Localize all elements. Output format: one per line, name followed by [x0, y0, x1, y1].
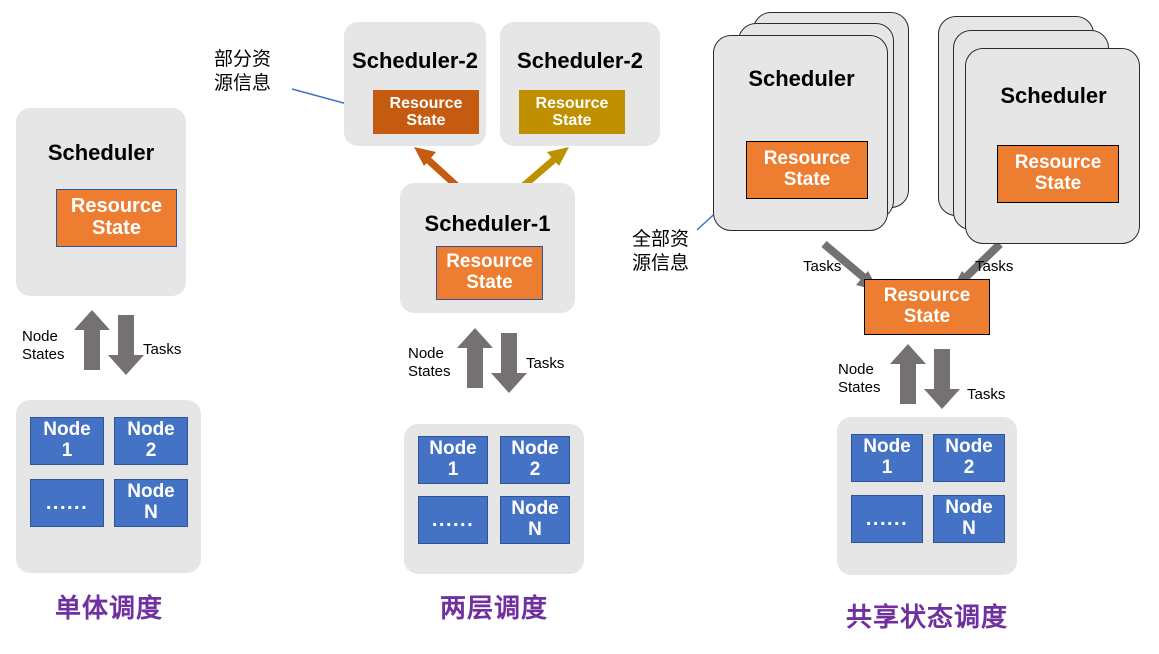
- node-label-line1: Node: [127, 482, 175, 503]
- resource-state-line1: Resource: [446, 252, 533, 273]
- node-box: Node N: [114, 479, 188, 527]
- shared-resource-state-box: Resource State: [864, 279, 990, 335]
- node-box-ellipsis: ......: [30, 479, 104, 527]
- scheduler-title: Scheduler: [966, 83, 1141, 109]
- resource-state-box: Resource State: [56, 189, 177, 247]
- annotation-full-resource: 全部资 源信息: [632, 228, 724, 276]
- annotation-line1: 部分资: [214, 48, 306, 72]
- scheduler-title: Scheduler-2: [500, 48, 660, 74]
- label-tasks-arrow-left: Tasks: [803, 258, 841, 276]
- resource-state-line2: State: [446, 273, 533, 294]
- caption-shared-state: 共享状态调度: [818, 597, 1036, 634]
- node-cluster-two-level: Node 1 Node 2 ...... Node N: [404, 424, 584, 574]
- node-label-line1: ......: [432, 509, 474, 531]
- node-label-line1: Node: [127, 420, 175, 441]
- label-line1: Node: [408, 345, 468, 363]
- node-label-line1: ......: [866, 508, 908, 530]
- node-box: Node 2: [114, 417, 188, 465]
- resource-state-line2: State: [536, 112, 609, 129]
- resource-state-line2: State: [764, 170, 851, 191]
- node-label-line1: Node: [43, 420, 91, 441]
- scheduler-title: Scheduler: [714, 66, 889, 92]
- node-label-line1: Node: [511, 439, 559, 460]
- resource-state-box: Resource State: [436, 246, 543, 300]
- node-box: Node 1: [851, 434, 923, 482]
- node-cluster-monolithic: Node 1 Node 2 ...... Node N: [16, 400, 201, 573]
- scheduler-title: Scheduler: [16, 140, 186, 166]
- resource-state-line1: Resource: [1015, 153, 1102, 174]
- resource-state-line1: Resource: [764, 149, 851, 170]
- label-line2: States: [838, 379, 898, 397]
- scheduler-title: Scheduler-1: [400, 211, 575, 237]
- node-label-line2: N: [511, 520, 559, 541]
- resource-state-line2: State: [884, 307, 971, 328]
- resource-state-line2: State: [390, 112, 463, 129]
- node-box: Node 2: [933, 434, 1005, 482]
- label-line1: Node: [838, 361, 898, 379]
- scheduler-stack-front-left: Scheduler Resource State: [713, 35, 888, 231]
- node-box: Node 2: [500, 436, 570, 484]
- node-label-line1: Node: [863, 437, 911, 458]
- resource-state-box: Resource State: [519, 90, 625, 134]
- annotation-line1: 全部资: [632, 228, 724, 252]
- label-node-states-2: Node States: [408, 345, 468, 380]
- node-box-ellipsis: ......: [851, 495, 923, 543]
- resource-state-line1: Resource: [536, 95, 609, 112]
- scheduler-box-sub-left: Scheduler-2 Resource State: [344, 22, 486, 146]
- resource-state-box: Resource State: [373, 90, 479, 134]
- annotation-partial-resource: 部分资 源信息: [214, 48, 306, 96]
- label-line2: States: [408, 363, 468, 381]
- label-node-states-3: Node States: [838, 361, 898, 396]
- block-arrow-tasks-2: [491, 333, 527, 393]
- resource-state-box: Resource State: [997, 145, 1119, 203]
- label-node-states-1: Node States: [22, 328, 82, 363]
- resource-state-line2: State: [71, 218, 162, 240]
- label-line2: States: [22, 346, 82, 364]
- node-label-line2: N: [127, 503, 175, 524]
- scheduler-box-monolithic: Scheduler Resource State: [16, 108, 186, 296]
- resource-state-line1: Resource: [71, 196, 162, 218]
- node-label-line2: 2: [127, 441, 175, 462]
- node-label-line2: 2: [511, 460, 559, 481]
- node-box: Node N: [500, 496, 570, 544]
- node-label-line2: 2: [945, 458, 993, 479]
- node-label-line1: ......: [46, 492, 88, 514]
- resource-state-line1: Resource: [390, 95, 463, 112]
- node-label-line1: Node: [511, 499, 559, 520]
- node-box: Node 1: [418, 436, 488, 484]
- node-label-line1: Node: [429, 439, 477, 460]
- label-line1: Node: [22, 328, 82, 346]
- block-arrow-tasks-3: [924, 349, 960, 409]
- node-box: Node N: [933, 495, 1005, 543]
- resource-state-line1: Resource: [884, 286, 971, 307]
- caption-monolithic: 单体调度: [0, 588, 218, 625]
- resource-state-box: Resource State: [746, 141, 868, 199]
- node-label-line1: Node: [945, 498, 993, 519]
- scheduler-box-root: Scheduler-1 Resource State: [400, 183, 575, 313]
- node-label-line1: Node: [945, 437, 993, 458]
- scheduler-title: Scheduler-2: [344, 48, 486, 74]
- node-box-ellipsis: ......: [418, 496, 488, 544]
- label-tasks-1: Tasks: [143, 341, 181, 359]
- annotation-line2: 源信息: [214, 72, 306, 96]
- node-label-line2: N: [945, 519, 993, 540]
- node-box: Node 1: [30, 417, 104, 465]
- resource-state-line2: State: [1015, 174, 1102, 195]
- label-tasks-3: Tasks: [967, 386, 1005, 404]
- node-label-line2: 1: [43, 441, 91, 462]
- annotation-line2: 源信息: [632, 252, 724, 276]
- node-label-line2: 1: [863, 458, 911, 479]
- scheduler-box-sub-right: Scheduler-2 Resource State: [500, 22, 660, 146]
- label-tasks-arrow-right: Tasks: [975, 258, 1013, 276]
- label-tasks-2: Tasks: [526, 355, 564, 373]
- scheduler-stack-front-right: Scheduler Resource State: [965, 48, 1140, 244]
- arrow-sched1-to-sched2-right: [521, 147, 569, 188]
- node-label-line2: 1: [429, 460, 477, 481]
- block-arrow-tasks-1: [108, 315, 144, 375]
- node-cluster-shared-state: Node 1 Node 2 ...... Node N: [837, 417, 1017, 575]
- caption-two-level: 两层调度: [385, 588, 603, 625]
- arrow-sched1-to-sched2-left: [414, 147, 459, 188]
